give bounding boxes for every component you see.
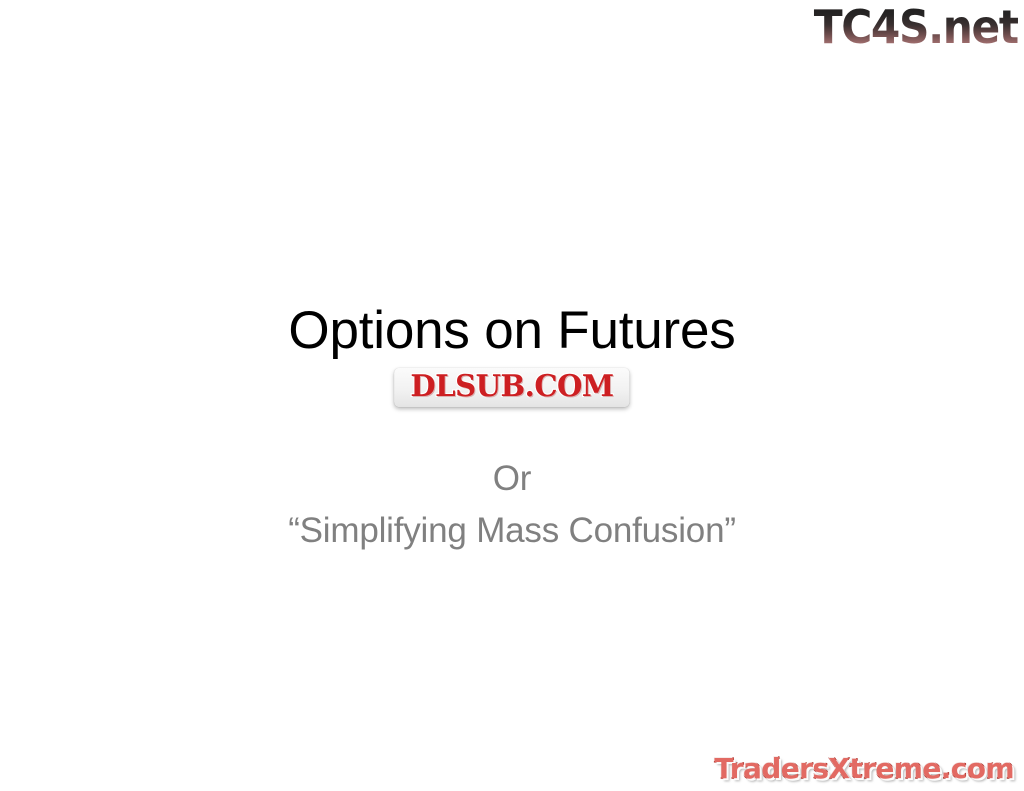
subtitle-line-1: Or — [0, 453, 1024, 505]
watermark-container: DLSUB.COM — [0, 368, 1024, 416]
slide-content-block: Options on Futures DLSUB.COM Or “Simplif… — [0, 300, 1024, 557]
page-title: Options on Futures — [0, 300, 1024, 362]
dlsub-watermark: DLSUB.COM — [394, 368, 629, 407]
presentation-slide: TC4S.net Options on Futures DLSUB.COM Or… — [0, 0, 1024, 791]
slide-subtitle: Or “Simplifying Mass Confusion” — [0, 453, 1024, 557]
tc4s-logo: TC4S.net — [814, 1, 1018, 53]
tradersxtreme-logo: TradersXtreme.com — [714, 752, 1014, 786]
subtitle-line-2: “Simplifying Mass Confusion” — [0, 505, 1024, 557]
dlsub-watermark-text: DLSUB.COM — [410, 372, 613, 402]
